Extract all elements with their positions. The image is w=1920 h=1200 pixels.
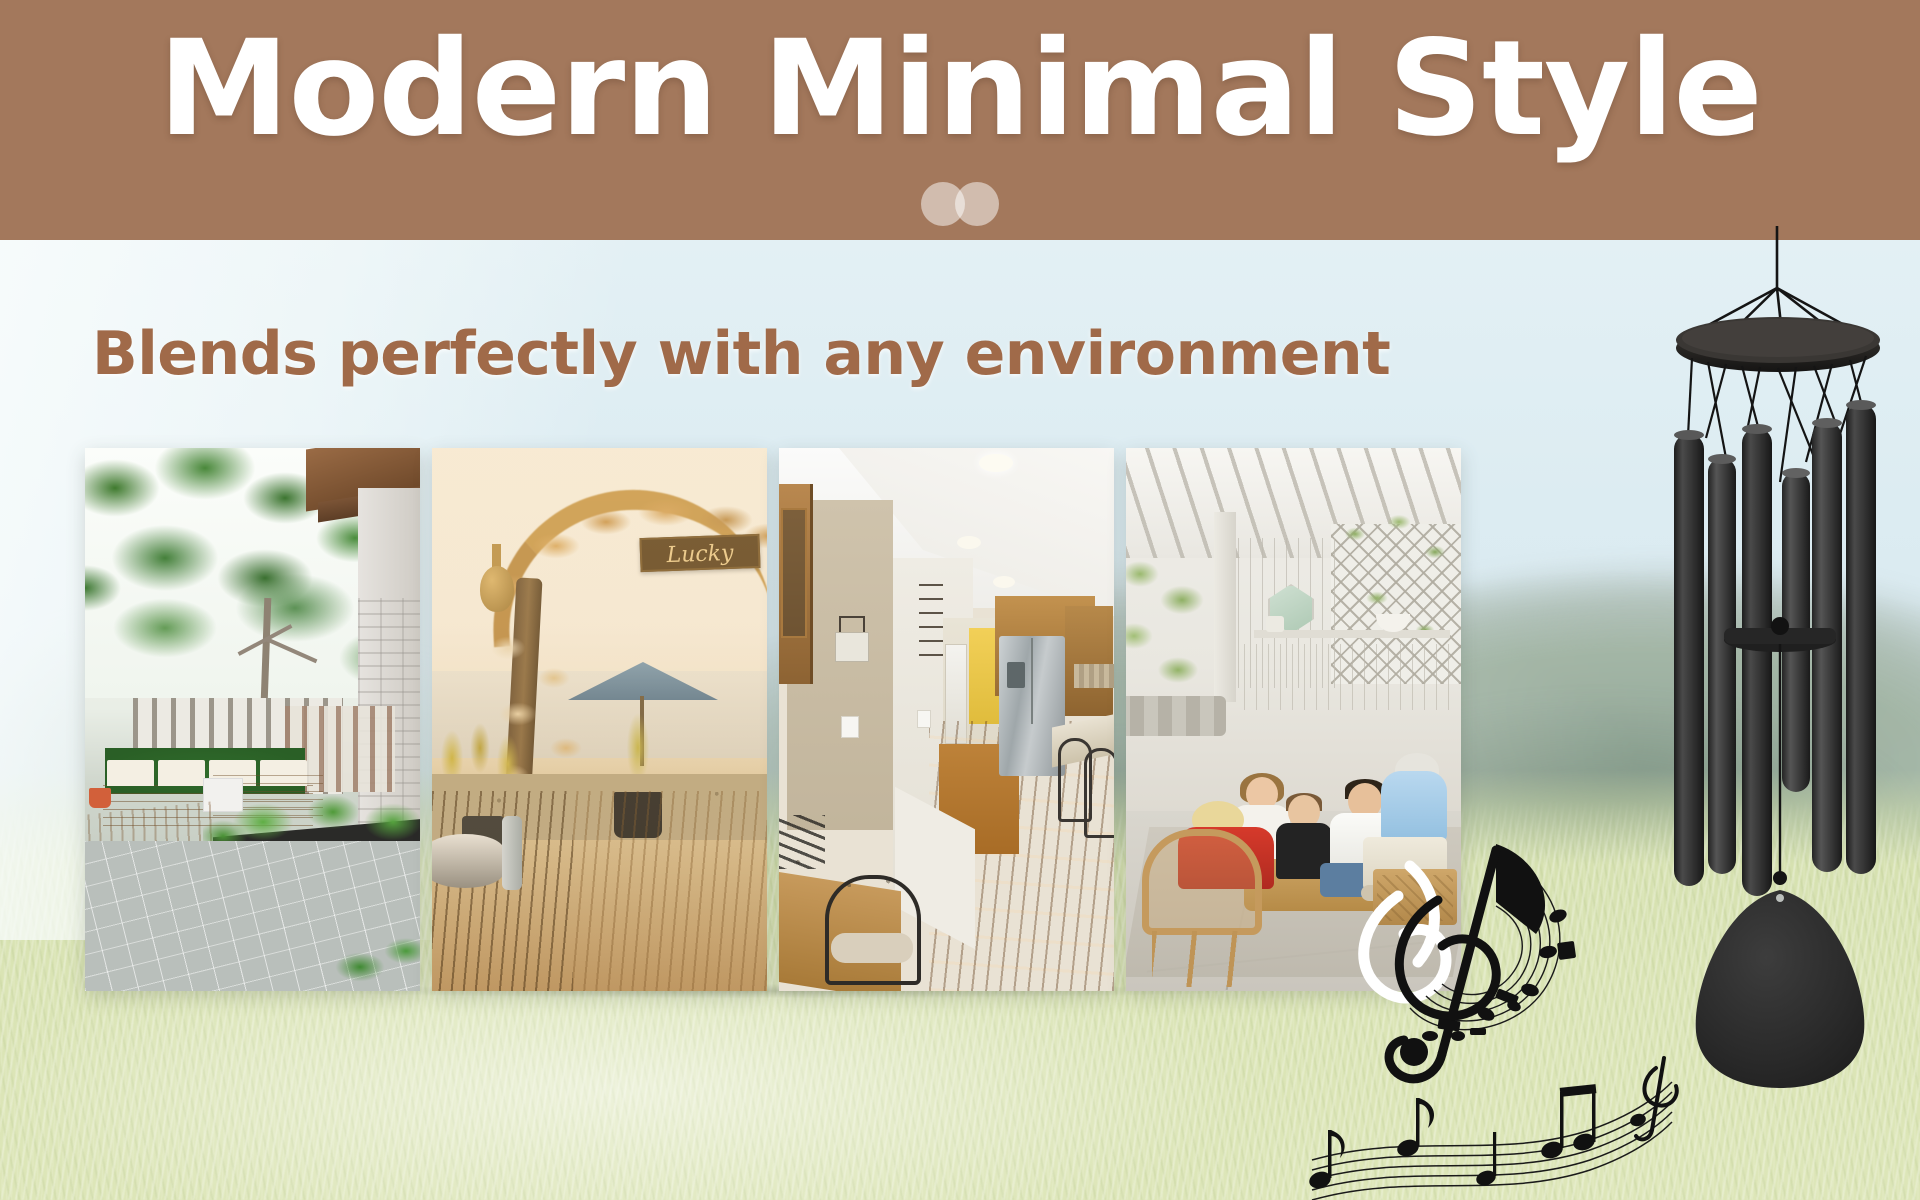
chime-wind-sail — [1696, 890, 1865, 1088]
treble-clef-small — [1636, 1058, 1677, 1139]
stone-wall — [1126, 696, 1226, 736]
golden-hour-overlay — [432, 448, 767, 991]
music-notes-decoration — [1290, 830, 1710, 1200]
wall-panel-lower — [1244, 644, 1456, 710]
photo-gallery: Lucky — [85, 448, 1470, 991]
chime-tube-3 — [1742, 428, 1772, 896]
clef-base-dot — [1400, 1038, 1428, 1066]
two-circles-icon — [921, 182, 999, 226]
chime-tube-2 — [1708, 458, 1736, 874]
circle-right — [955, 182, 999, 226]
chime-sail-bead — [1773, 871, 1787, 885]
cabinet-glass-panel — [781, 508, 807, 638]
poster-canvas: Modern Minimal Style Blends perfectly wi… — [0, 0, 1920, 1200]
page-title: Modern Minimal Style — [0, 14, 1920, 164]
refrigerator-door-split — [1031, 638, 1033, 724]
photo-2-content: Lucky — [432, 448, 767, 991]
chime-tube-6 — [1846, 404, 1876, 874]
recessed-light-2 — [957, 536, 981, 549]
hanging-wall-sign — [835, 632, 869, 662]
photo-3-content — [779, 448, 1114, 991]
terracotta-pot — [89, 788, 111, 808]
bar-stool-2 — [1084, 748, 1114, 838]
refrigerator-dispenser — [1007, 662, 1025, 688]
wicker-chair-legs — [1152, 931, 1248, 987]
bistro-chair-seat — [831, 933, 913, 963]
gallery-photo-kitchen-interior[interactable] — [779, 448, 1114, 991]
recessed-light-3 — [993, 576, 1015, 588]
wicker-chair — [1142, 829, 1262, 935]
chime-tube-1 — [1674, 434, 1704, 886]
wine-rack — [779, 815, 825, 869]
wall-shelf — [1254, 630, 1450, 638]
foreground-leaves — [320, 927, 420, 991]
metal-bistro-chair — [825, 875, 921, 985]
subtitle-text: Blends perfectly with any environment — [92, 320, 1390, 388]
ceramic-cup — [1266, 616, 1284, 632]
clef-flag — [1496, 844, 1545, 934]
garden-foliage — [1126, 544, 1230, 714]
recessed-light-1 — [979, 454, 1013, 472]
header-banner: Modern Minimal Style — [0, 0, 1920, 240]
kitchen-backsplash — [1074, 664, 1114, 688]
wall-art-panel — [919, 584, 943, 668]
gallery-photo-rooftop-garden[interactable] — [85, 448, 420, 991]
upper-cabinet-far-right — [1065, 606, 1113, 716]
photo-1-content — [85, 448, 420, 991]
light-switch-2 — [917, 710, 931, 728]
chime-top-disc — [1676, 317, 1880, 372]
gallery-photo-beach-boardwalk[interactable]: Lucky — [432, 448, 767, 991]
light-switch-1 — [841, 716, 859, 738]
